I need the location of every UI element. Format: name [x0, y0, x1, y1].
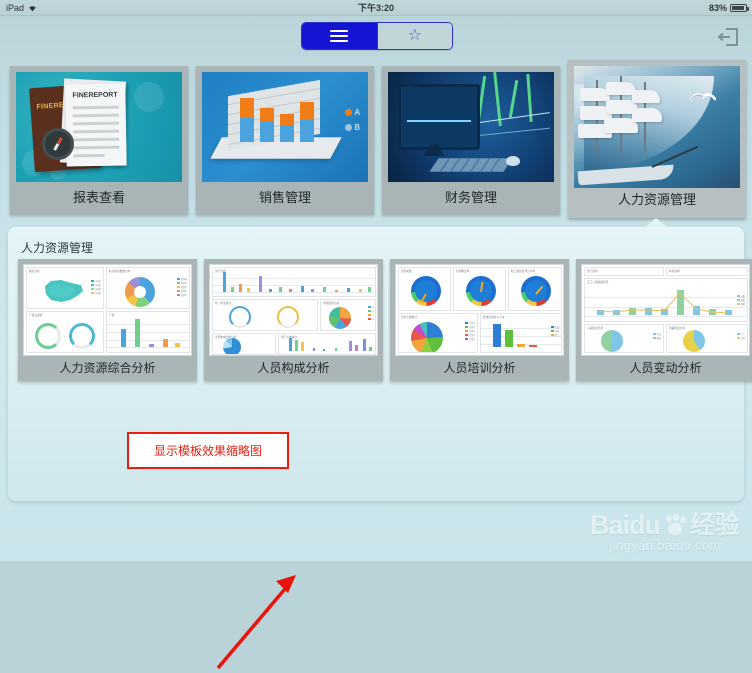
panel-title: 人力资源管理: [21, 239, 93, 256]
view-mode-segmented-control[interactable]: ☆: [301, 22, 453, 50]
module-thumb-hr: [574, 66, 740, 188]
module-thumb-finance: [388, 72, 554, 182]
annotation-callout: 显示模板效果缩略图: [127, 432, 289, 469]
template-card-staff-composition[interactable]: 部门分布: [204, 259, 383, 381]
watermark-url: jingyan.baidu.com: [590, 538, 740, 553]
tab-list-view[interactable]: [302, 23, 377, 49]
template-row: 报表分析 区域1 区域2 区域3 区域4: [8, 259, 744, 381]
module-thumb-sales: A B: [202, 72, 368, 182]
status-bar-right: 83%: [709, 3, 747, 13]
module-card-sales[interactable]: A B 销售管理: [196, 66, 374, 214]
paw-icon: [662, 514, 688, 536]
module-card-row: FINEREPORT FINEREPORT 报表查看: [0, 58, 752, 218]
battery-percent: 83%: [709, 3, 727, 13]
module-label: 销售管理: [196, 184, 374, 214]
template-thumb: 培训总数 培训覆盖率 职工满意度评分平均: [395, 264, 564, 356]
template-card-staff-training[interactable]: 培训总数 培训覆盖率 职工满意度评分平均: [390, 259, 569, 381]
list-icon: [330, 30, 348, 42]
exit-icon[interactable]: [716, 27, 740, 47]
seagull-icon: [690, 90, 716, 102]
watermark-suffix: 经验: [690, 511, 740, 539]
selected-card-pointer: [645, 218, 667, 227]
ipad-screen: iPad 下午3:20 83% ☆: [0, 0, 752, 561]
template-thumb: 部门分布: [209, 264, 378, 356]
template-label: 人员培训分析: [390, 355, 569, 381]
watermark: Baidu 经验 jingyan.baidu.com: [590, 511, 740, 553]
template-label: 人员构成分析: [204, 355, 383, 381]
template-panel: 人力资源管理 报表分析 区域1 区域2 区域3: [8, 227, 744, 501]
annotation-arrow: [208, 563, 318, 673]
module-card-report[interactable]: FINEREPORT FINEREPORT 报表查看: [10, 66, 188, 214]
top-bar: ☆: [0, 15, 752, 56]
battery-icon: [730, 4, 747, 12]
watermark-brand: Baidu: [590, 511, 660, 539]
template-thumb: 部门选择 年份选择 员工入职离职趋势: [581, 264, 750, 356]
annotation-text: 显示模板效果缩略图: [154, 442, 262, 459]
star-icon: ☆: [408, 28, 422, 44]
module-label: 财务管理: [382, 184, 560, 214]
status-bar: iPad 下午3:20 83%: [0, 0, 752, 16]
module-label: 报表查看: [10, 184, 188, 214]
template-thumb: 报表分析 区域1 区域2 区域3 区域4: [23, 264, 192, 356]
module-label: 人力资源管理: [568, 186, 746, 216]
tab-favorites-view[interactable]: ☆: [377, 23, 453, 49]
module-thumb-report: FINEREPORT FINEREPORT: [16, 72, 182, 182]
module-card-finance[interactable]: 财务管理: [382, 66, 560, 214]
template-label: 人员变动分析: [576, 355, 752, 381]
status-time: 下午3:20: [0, 1, 752, 14]
template-label: 人力资源综合分析: [18, 355, 197, 381]
template-card-hr-overview[interactable]: 报表分析 区域1 区域2 区域3 区域4: [18, 259, 197, 381]
module-card-hr[interactable]: 人力资源管理: [568, 60, 746, 218]
template-card-staff-turnover[interactable]: 部门选择 年份选择 员工入职离职趋势: [576, 259, 752, 381]
